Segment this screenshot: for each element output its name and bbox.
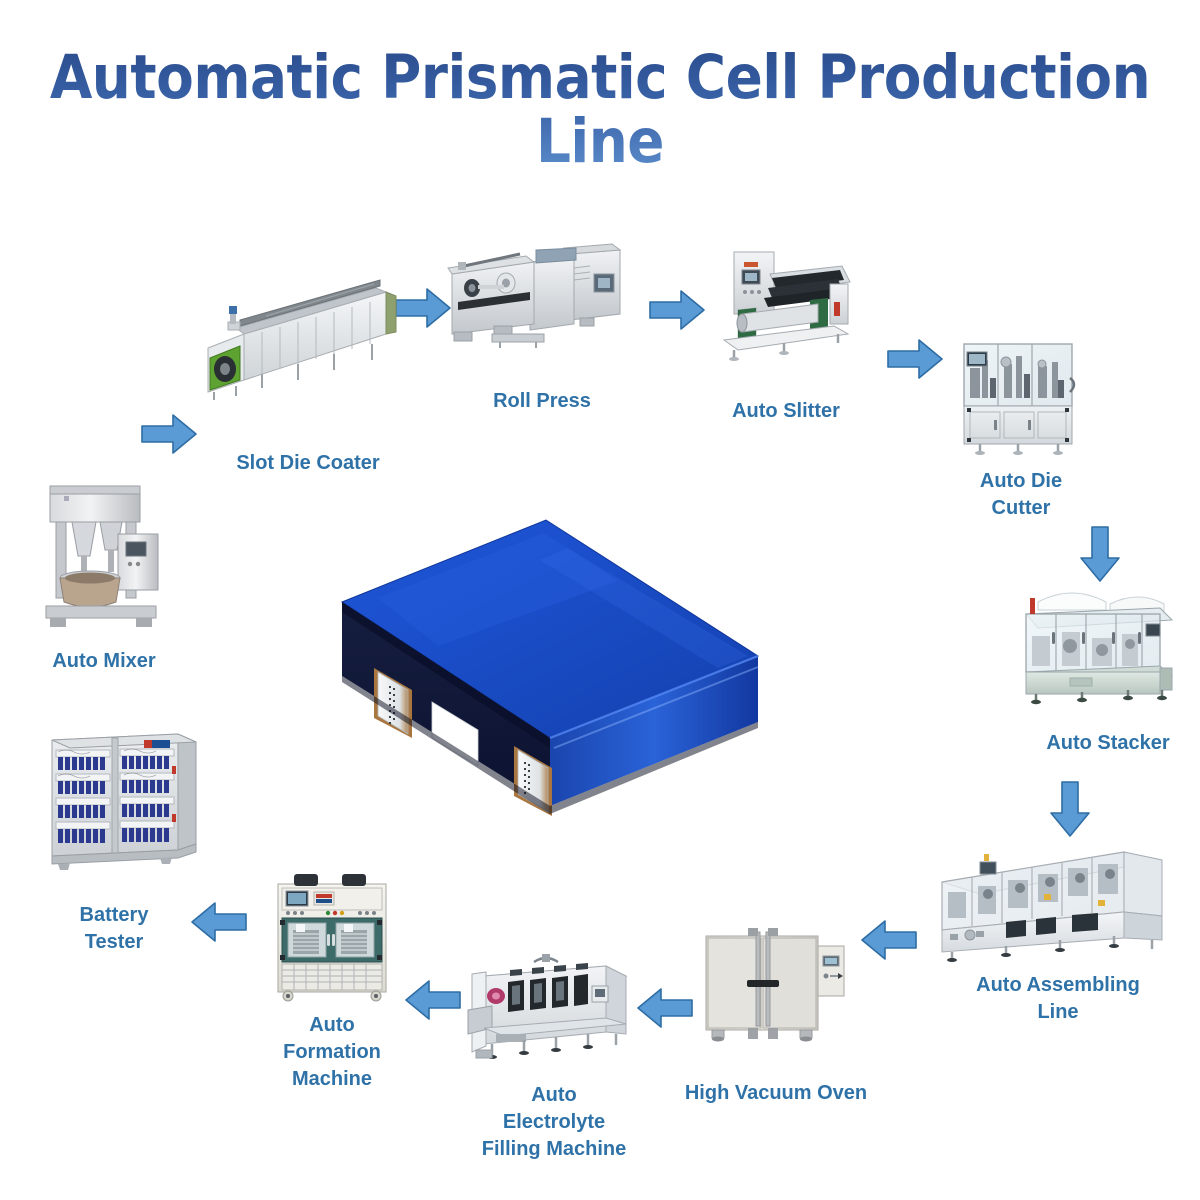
label-high-vacuum-oven: High Vacuum Oven: [672, 1080, 880, 1107]
arrow-oven-to-filling: [636, 986, 694, 1030]
label-battery-tester: Battery Tester: [34, 902, 194, 956]
label-auto-assembling-line: Auto Assembling Line: [948, 972, 1168, 1026]
arrow-formation-to-tester: [190, 900, 248, 944]
machine-auto-die-cutter: [958, 338, 1080, 458]
label-auto-slitter: Auto Slitter: [706, 398, 866, 425]
machine-auto-stacker: [1010, 580, 1180, 705]
machine-auto-slitter: [712, 248, 862, 364]
label-auto-die-cutter: Auto Die Cutter: [942, 468, 1100, 522]
machine-auto-assembling-line: [928, 836, 1170, 964]
arrow-diecutter-to-stacker: [1078, 525, 1122, 583]
label-auto-electrolyte-filling: Auto Electrolyte Filling Machine: [448, 1082, 660, 1163]
machine-slot-die-coater: [200, 276, 400, 406]
production-line-diagram: Automatic Prismatic Cell Production Line…: [0, 0, 1200, 1200]
page-title-reflection: Automatic Prismatic Cell Production Line: [0, 112, 1200, 172]
machine-auto-formation: [272, 868, 392, 1008]
arrow-stacker-to-assembly: [1048, 780, 1092, 838]
label-auto-formation: Auto Formation Machine: [244, 1012, 420, 1093]
arrow-coater-to-rollpress: [648, 288, 706, 332]
arrow-rollpress-to-slitter: [886, 337, 944, 381]
label-roll-press: Roll Press: [452, 388, 632, 415]
arrow-into-mixer: [140, 412, 198, 456]
machine-auto-electrolyte-filling: [466, 952, 634, 1072]
machine-roll-press: [444, 240, 636, 350]
machine-battery-tester: [44, 722, 204, 870]
machine-auto-mixer: [34, 478, 174, 633]
machine-high-vacuum-oven: [700, 918, 850, 1046]
label-slot-die-coater: Slot Die Coater: [200, 450, 416, 477]
label-auto-mixer: Auto Mixer: [14, 648, 194, 675]
prismatic-battery-cell: 53074.: [318, 506, 778, 836]
label-auto-stacker: Auto Stacker: [1022, 730, 1194, 757]
arrow-assembly-to-oven: [860, 918, 918, 962]
